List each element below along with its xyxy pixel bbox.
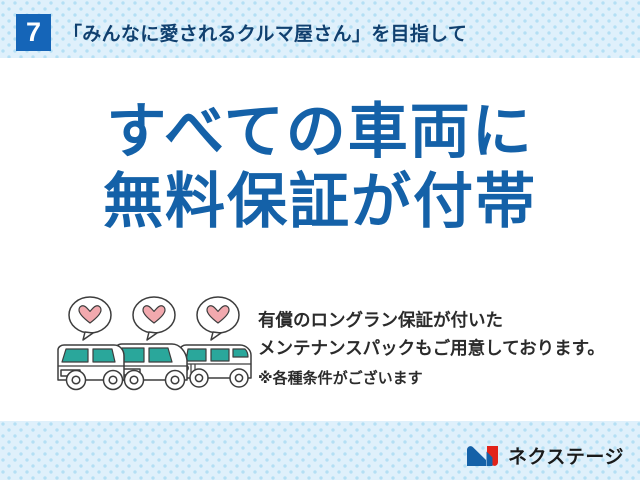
three-cars-illustration bbox=[52, 292, 257, 392]
car-minivan bbox=[114, 344, 187, 390]
headline: すべての車両に 無料保証が付帯 bbox=[0, 98, 640, 237]
headline-line-2: 無料保証が付帯 bbox=[0, 168, 640, 238]
heart-bubble-3 bbox=[197, 297, 239, 340]
car-kei-wagon bbox=[58, 345, 124, 390]
brand-logo: ネクステージ bbox=[465, 442, 624, 469]
headline-line-1: すべての車両に bbox=[0, 98, 640, 168]
promo-banner: 7 「みんなに愛されるクルマ屋さん」を目指して すべての車両に 無料保証が付帯 bbox=[0, 0, 640, 480]
step-number-badge: 7 bbox=[16, 14, 51, 51]
body-copy-note: ※各種条件がございます bbox=[258, 366, 634, 392]
heart-bubble-1 bbox=[69, 297, 111, 340]
header-title: 「みんなに愛されるクルマ屋さん」を目指して bbox=[63, 19, 467, 46]
heart-bubble-2 bbox=[133, 297, 175, 340]
car-suv bbox=[180, 345, 251, 387]
header-row: 7 「みんなに愛されるクルマ屋さん」を目指して bbox=[16, 13, 467, 51]
nexstage-n-mark-icon bbox=[465, 444, 501, 468]
body-copy-line-2: メンテナンスパックもご用意しております。 bbox=[258, 335, 634, 363]
body-copy: 有償のロングラン保証が付いた メンテナンスパックもご用意しております。 ※各種条… bbox=[258, 307, 634, 391]
body-copy-line-1: 有償のロングラン保証が付いた bbox=[258, 307, 634, 335]
brand-logo-text: ネクステージ bbox=[508, 442, 624, 469]
